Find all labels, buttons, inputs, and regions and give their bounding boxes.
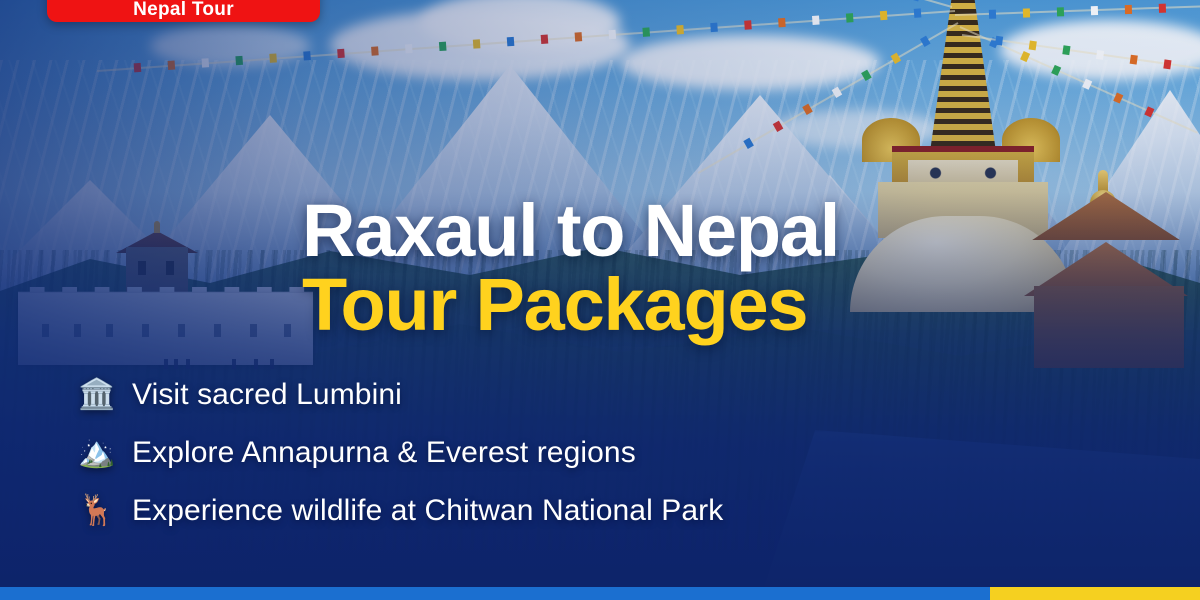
fort-window — [178, 324, 185, 337]
prayer-flag — [914, 8, 922, 17]
prayer-flag — [642, 27, 650, 36]
prayer-flag — [1029, 41, 1037, 51]
fort-window — [106, 324, 113, 337]
fort-window — [214, 324, 221, 337]
prayer-flag — [168, 61, 176, 70]
visitor-figure — [186, 359, 190, 369]
tour-package-banner: Nepal Tour Raxaul to Nepal Tour Packages… — [0, 0, 1200, 600]
bottom-accent-bar — [0, 587, 1200, 600]
prayer-flag — [1096, 50, 1104, 60]
prayer-flag — [269, 53, 277, 62]
tower-window — [138, 261, 146, 275]
page-title: Raxaul to Nepal Tour Packages — [302, 196, 1182, 339]
prayer-flag — [371, 46, 379, 55]
visitor-figure — [174, 359, 178, 369]
fort-window — [74, 324, 81, 337]
visitor-figure — [254, 359, 258, 369]
prayer-flag — [710, 23, 718, 32]
prayer-flag — [405, 44, 413, 53]
stupa-spire — [930, 0, 996, 152]
visitor-figure — [164, 359, 168, 369]
list-item: 🏔️ Explore Annapurna & Everest regions — [78, 436, 1058, 470]
prayer-flag — [473, 39, 481, 48]
prayer-flag — [303, 51, 311, 60]
fort-finial — [154, 221, 160, 233]
prayer-flag — [608, 30, 616, 39]
list-item: 🏛️ Visit sacred Lumbini — [78, 378, 1058, 412]
snow-mountain-icon: 🏔️ — [78, 438, 114, 468]
headline-line-2: Tour Packages — [302, 270, 1182, 340]
prayer-flag — [235, 56, 243, 65]
prayer-flag — [846, 13, 854, 22]
headline-line-1: Raxaul to Nepal — [302, 196, 1182, 266]
promo-badge: Nepal Tour — [47, 0, 320, 22]
prayer-flag — [880, 11, 888, 20]
bottom-bar-right-segment — [990, 587, 1200, 600]
tower-window — [166, 261, 174, 275]
prayer-flag — [575, 32, 583, 41]
prayer-flag — [1130, 55, 1138, 65]
fort-wall — [18, 293, 313, 365]
prayer-flag — [1125, 5, 1132, 14]
fort-window — [284, 324, 291, 337]
prayer-flag — [541, 34, 549, 43]
prayer-flag — [989, 10, 996, 19]
feature-list: 🏛️ Visit sacred Lumbini 🏔️ Explore Annap… — [78, 378, 1058, 552]
promo-badge-label: Nepal Tour — [133, 0, 234, 19]
feature-text: Experience wildlife at Chitwan National … — [132, 494, 723, 528]
fort-window — [142, 324, 149, 337]
prayer-flag — [1091, 6, 1098, 15]
prayer-flag — [995, 36, 1003, 46]
visitor-figure — [232, 359, 236, 369]
prayer-flag — [1062, 45, 1070, 55]
feature-text: Explore Annapurna & Everest regions — [132, 436, 636, 470]
prayer-flag — [201, 58, 209, 67]
deer-icon: 🦌 — [78, 496, 114, 526]
prayer-flag — [1163, 59, 1171, 69]
classical-building-icon: 🏛️ — [78, 380, 114, 410]
prayer-flag — [507, 37, 515, 46]
prayer-flag — [337, 49, 345, 58]
visitor-figure — [270, 359, 274, 369]
prayer-flag — [1159, 4, 1166, 13]
prayer-flag — [439, 42, 447, 51]
list-item: 🦌 Experience wildlife at Chitwan Nationa… — [78, 494, 1058, 528]
feature-text: Visit sacred Lumbini — [132, 378, 402, 412]
bottom-bar-left-segment — [0, 587, 990, 600]
prayer-flag — [676, 25, 684, 34]
prayer-flag — [812, 15, 820, 24]
prayer-flag — [1023, 8, 1030, 17]
fort-window — [42, 324, 49, 337]
prayer-flag — [778, 18, 786, 27]
white-fort-palace — [18, 255, 313, 365]
prayer-flag — [1057, 7, 1064, 16]
prayer-flag — [134, 63, 142, 72]
prayer-flag — [744, 20, 752, 29]
fort-window — [250, 324, 257, 337]
